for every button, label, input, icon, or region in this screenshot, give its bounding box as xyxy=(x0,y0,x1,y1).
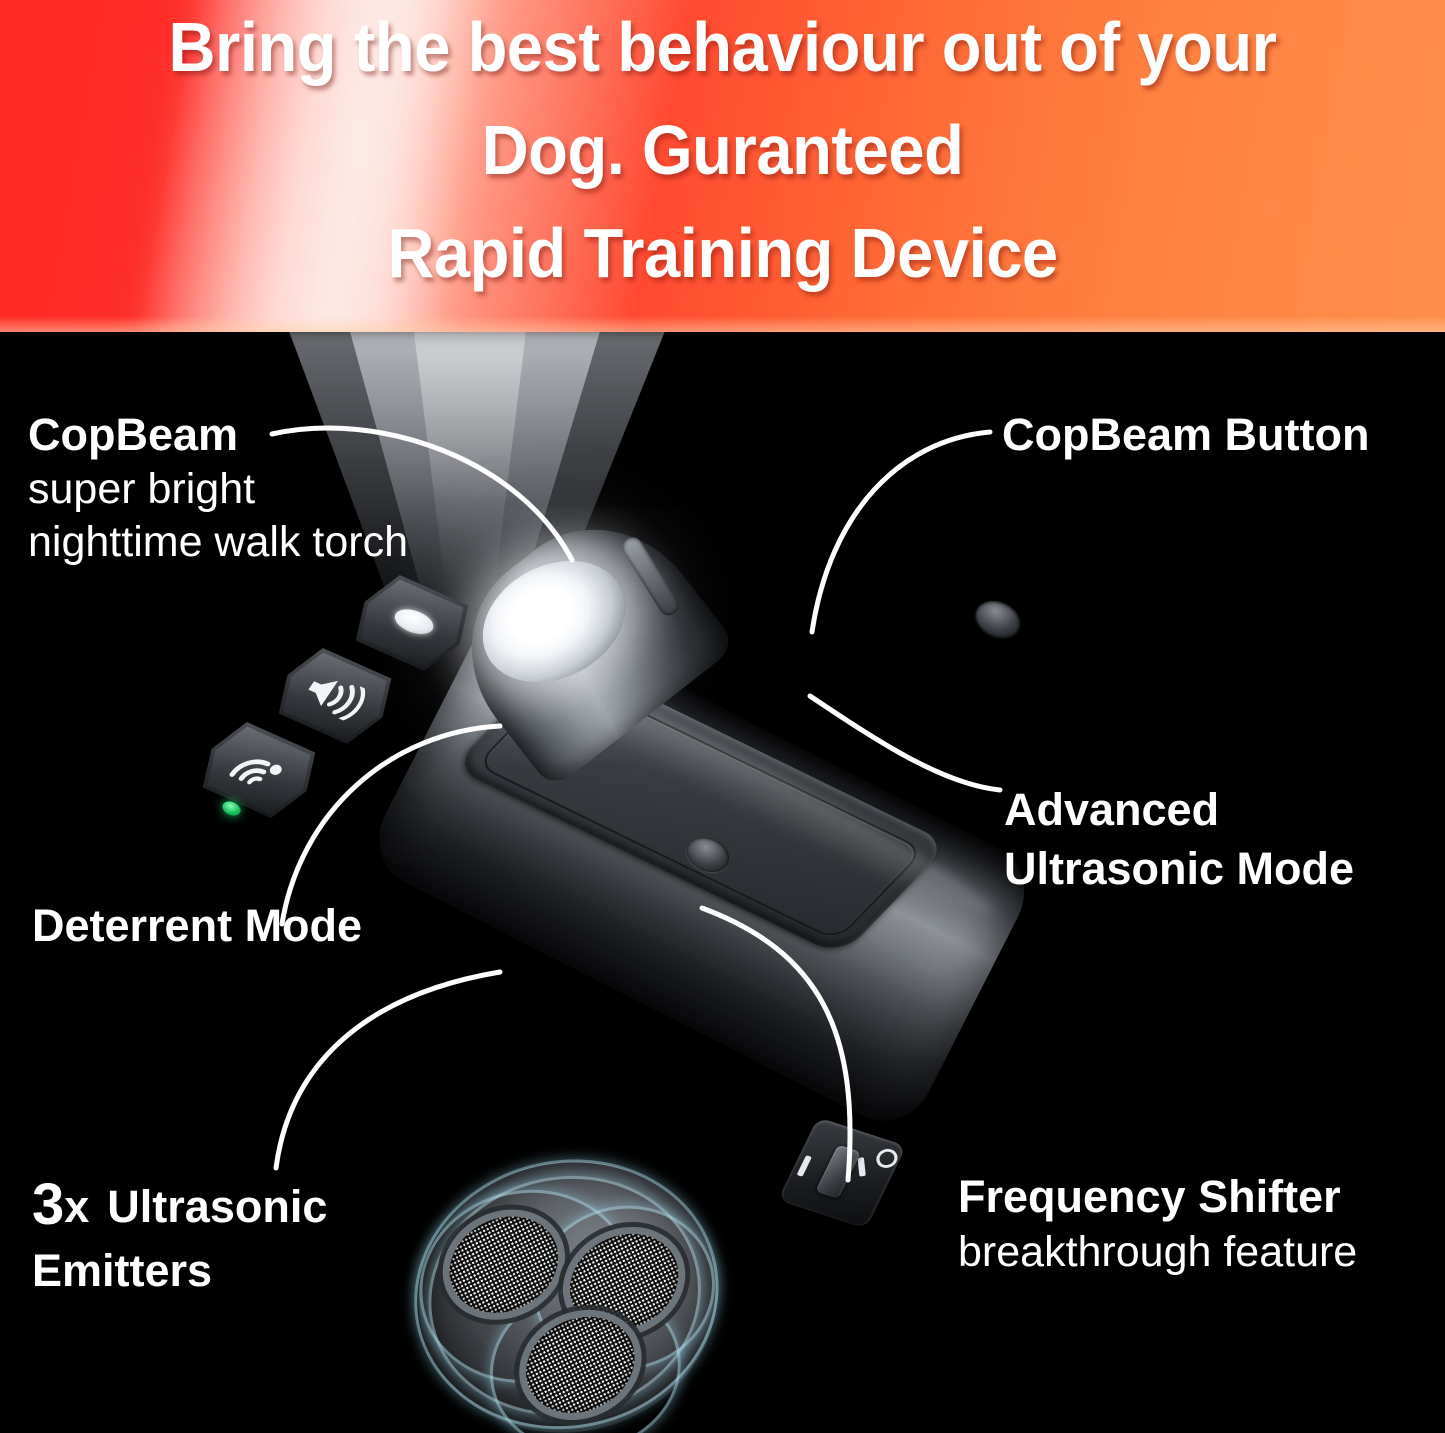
callout-copbeam-description: super bright nighttime walk torch xyxy=(28,463,428,568)
headline-banner: Bring the best behaviour out of your Dog… xyxy=(0,0,1445,332)
callout-emitters-title: Ultrasonic xyxy=(107,1181,327,1232)
callout-frequency-shifter-description: breakthrough feature xyxy=(958,1225,1428,1280)
callout-frequency-shifter-title: Frequency Shifter xyxy=(958,1170,1428,1223)
copbeam-button[interactable] xyxy=(342,569,481,677)
callout-emitters-multiplier: x xyxy=(64,1181,89,1232)
switch-mark-high xyxy=(873,1146,901,1170)
callout-deterrent: Deterrent Mode xyxy=(32,899,362,952)
callout-emitters-title-second: Emitters xyxy=(32,1244,452,1298)
torch-side-rib xyxy=(619,534,683,619)
switch-mark-low xyxy=(797,1155,812,1177)
ultrasonic-emitter-1 xyxy=(433,1199,574,1331)
body-port-upper xyxy=(970,594,1026,644)
callout-advanced-ultrasonic: Advanced Ultrasonic Mode xyxy=(1004,780,1434,899)
deterrent-button[interactable] xyxy=(189,716,328,824)
switch-knob[interactable] xyxy=(815,1145,861,1199)
product-stage: CopBeam super bright nighttime walk torc… xyxy=(0,332,1445,1433)
banner-bottom-fade xyxy=(0,316,1445,332)
callout-copbeam: CopBeam super bright nighttime walk torc… xyxy=(28,408,428,568)
infographic-page: Bring the best behaviour out of your Dog… xyxy=(0,0,1445,1433)
callout-copbeam-button: CopBeam Button xyxy=(1002,408,1369,461)
torch-lens xyxy=(461,537,646,706)
headline-line-2: Dog. Guranteed xyxy=(51,115,1395,185)
callout-copbeam-button-title: CopBeam Button xyxy=(1002,409,1369,460)
advanced-ultrasonic-button[interactable] xyxy=(265,642,404,750)
headline-line-3: Rapid Training Device xyxy=(51,218,1395,288)
frequency-shifter-switch[interactable] xyxy=(778,1117,907,1228)
switch-mark-mid xyxy=(858,1157,866,1177)
callout-frequency-shifter: Frequency Shifter breakthrough feature xyxy=(958,1170,1428,1280)
headline-line-1: Bring the best behaviour out of your xyxy=(51,12,1395,82)
callout-deterrent-title: Deterrent Mode xyxy=(32,900,362,951)
callout-emitters-count: 3 xyxy=(32,1172,64,1237)
callout-emitters: 3xUltrasonic Emitters xyxy=(32,1170,452,1298)
callout-advanced-ultrasonic-title: Advanced Ultrasonic Mode xyxy=(1004,784,1354,894)
callout-copbeam-title: CopBeam xyxy=(28,408,428,461)
